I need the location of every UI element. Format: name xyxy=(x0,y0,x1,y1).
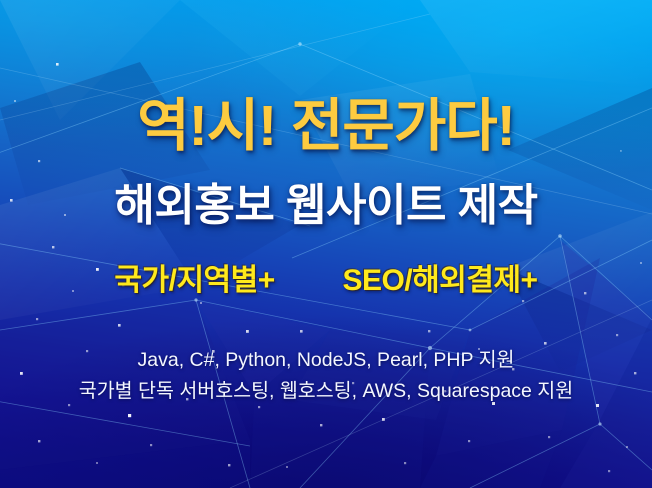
subheadline-text: 해외홍보 웹사이트 제작 xyxy=(0,184,652,228)
banner-text-content: 역!시! 전문가다! 해외홍보 웹사이트 제작 국가/지역별+ SEO/해외결제… xyxy=(0,0,652,488)
headline-text: 역!시! 전문가다! xyxy=(0,98,652,155)
promo-banner: 역!시! 전문가다! 해외홍보 웹사이트 제작 국가/지역별+ SEO/해외결제… xyxy=(0,0,652,488)
tag-row: 국가/지역별+ SEO/해외결제+ xyxy=(0,266,652,296)
feature-languages: Java, C#, Python, NodeJS, Pearl, PHP 지원 xyxy=(0,351,652,371)
feature-hosting: 국가별 단독 서버호스팅, 웹호스팅, AWS, Squarespace 지원 xyxy=(0,382,652,402)
tag-seo-payment: SEO/해외결제+ xyxy=(342,264,537,297)
tag-region: 국가/지역별+ xyxy=(114,264,274,297)
